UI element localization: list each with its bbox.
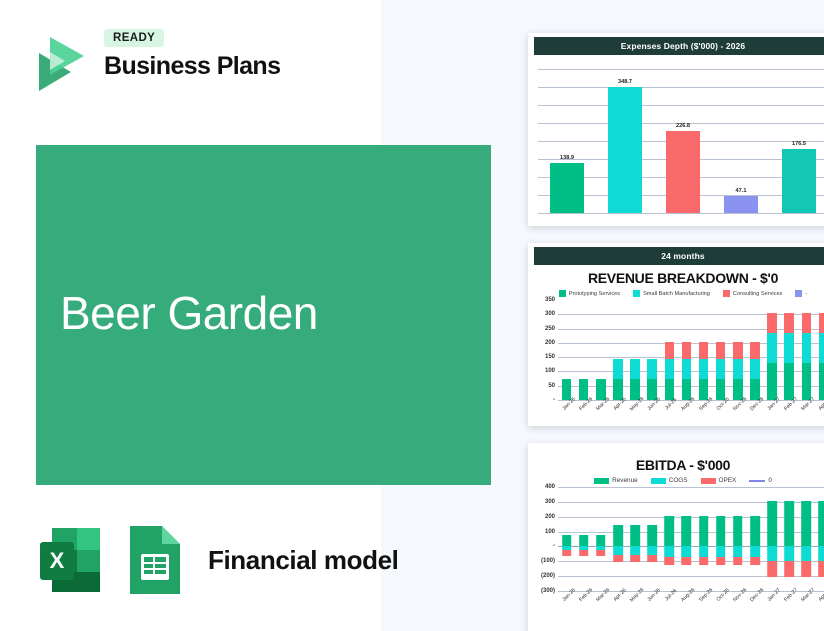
x-axis-tick: Sep-26 (695, 400, 712, 426)
svg-text:X: X (50, 548, 65, 573)
bar-segment (699, 379, 709, 400)
y-axis-label: 200 (545, 514, 558, 520)
stacked-bar (579, 379, 589, 400)
bar-segment (802, 363, 812, 400)
positive-stack (596, 535, 606, 546)
legend-swatch (651, 478, 666, 484)
x-axis-tick: Mar-27 (798, 400, 815, 426)
bar-slot (661, 487, 678, 591)
bar (724, 196, 758, 213)
bar-slot (575, 487, 592, 591)
stacked-bar (596, 379, 606, 400)
stacked-bar (802, 313, 812, 400)
stacked-bar (682, 342, 692, 400)
bar-slot (627, 300, 644, 400)
bar-segment (784, 546, 794, 561)
x-axis-tick: Nov-26 (729, 400, 746, 426)
bar-slot: 176.5 (770, 69, 824, 213)
bar (550, 163, 584, 213)
bar (782, 149, 816, 213)
bar-slot (729, 300, 746, 400)
bar-slot (781, 300, 798, 400)
bar-segment (733, 546, 743, 556)
y-axis-label: 100 (545, 368, 558, 374)
bar-segment (819, 333, 824, 363)
legend-label: 0 (768, 477, 772, 484)
chart-card-ebitda: EBITDA - $'000 RevenueCOGSOPEX0 40030020… (528, 443, 824, 631)
bar-segment (579, 379, 589, 400)
bar-segment (767, 501, 777, 547)
bar (666, 131, 700, 213)
x-axis-tick: Dec-26 (746, 591, 763, 617)
expenses-chart-title: Expenses Depth ($'000) - 2026 (534, 37, 824, 55)
negative-stack (665, 546, 675, 565)
bar-segment (682, 342, 692, 359)
x-axis-tick: Aug-26 (678, 400, 695, 426)
bar-segment (647, 555, 657, 562)
bar-segment (819, 363, 824, 400)
bar-segment (716, 359, 726, 379)
bar-value-label: 138.9 (560, 155, 574, 161)
x-axis-tick: Apr-27 (815, 591, 824, 617)
negative-stack (647, 546, 657, 562)
bar-value-label: 47.1 (736, 188, 747, 194)
legend-label: OPEX (719, 477, 737, 484)
bar-segment (802, 561, 812, 577)
x-axis-tick: Jan-27 (764, 591, 781, 617)
bar-segment (699, 359, 709, 379)
positive-stack (716, 516, 726, 546)
bar-slot (798, 300, 815, 400)
legend-item[interactable]: - (795, 290, 807, 297)
positive-stack (630, 525, 640, 547)
legend-item[interactable]: Consulting Services (723, 290, 782, 297)
negative-stack (784, 546, 794, 577)
x-axis-tick: Feb-27 (781, 591, 798, 617)
bar-segment (613, 546, 623, 555)
bar-segment (716, 557, 726, 566)
bar-slot (609, 487, 626, 591)
negative-stack (819, 546, 824, 577)
bar-value-label: 348.7 (618, 79, 632, 85)
bar-segment (750, 546, 760, 556)
bar-segment (784, 333, 794, 363)
bar-value-label: 226.8 (676, 123, 690, 129)
bar-slot (815, 487, 824, 591)
file-formats-row: X Financial model (32, 522, 399, 598)
bar-segment (682, 359, 692, 379)
bar-slot (575, 300, 592, 400)
bar-segment (819, 501, 824, 547)
y-axis-label: 300 (545, 311, 558, 317)
y-axis-label: 300 (545, 499, 558, 505)
positive-stack (802, 501, 812, 547)
legend-label: Small Batch Manufacturing (643, 291, 710, 297)
x-axis-tick: Mar-26 (592, 591, 609, 617)
bar-slot (644, 487, 661, 591)
y-axis-label: 250 (545, 326, 558, 332)
bar-segment (613, 525, 623, 547)
bar-segment (733, 359, 743, 379)
financial-model-label: Financial model (208, 545, 399, 576)
positive-stack (647, 525, 657, 547)
legend-label: Prototyping Services (569, 291, 620, 297)
bar-segment (767, 313, 777, 334)
play-triangles-logo-icon (24, 30, 92, 98)
x-axis-tick: Jan-26 (558, 400, 575, 426)
bar-segment (767, 363, 777, 400)
negative-stack (716, 546, 726, 565)
x-axis-tick: Apr-26 (609, 400, 626, 426)
bar-segment (699, 342, 709, 359)
revenue-plot-area: 35030025020015010050- (558, 300, 824, 400)
y-axis-label: 350 (545, 297, 558, 303)
bar-slot (712, 487, 729, 591)
legend-item[interactable]: Small Batch Manufacturing (633, 290, 710, 297)
revenue-period-ribbon: 24 months (534, 247, 824, 265)
x-axis-tick: Feb-27 (781, 400, 798, 426)
ebitda-legend: RevenueCOGSOPEX0 (528, 475, 824, 485)
y-axis-label: 50 (548, 383, 558, 389)
stacked-bar (716, 342, 726, 400)
legend-label: - (805, 291, 807, 297)
x-axis-tick: Jun-26 (644, 400, 661, 426)
ebitda-x-axis: Jan-26Feb-26Mar-26Apr-26May-26Jun-26Jul-… (558, 591, 824, 617)
ready-badge: READY (104, 29, 164, 47)
bar-slot (558, 487, 575, 591)
bar-segment (733, 516, 743, 546)
x-axis-tick: Apr-26 (609, 591, 626, 617)
bar-segment (647, 546, 657, 555)
bar-slot (644, 300, 661, 400)
stacked-bar (630, 359, 640, 400)
x-axis-tick: Apr-27 (815, 400, 824, 426)
positive-stack (682, 516, 692, 546)
legend-swatch (701, 478, 716, 484)
y-axis-label: 400 (545, 484, 558, 490)
bar-slot: 348.7 (596, 69, 654, 213)
bar-segment (784, 501, 794, 547)
bar-segment (699, 546, 709, 556)
bar-segment (682, 516, 692, 546)
bar-segment (750, 342, 760, 359)
bar-slot (609, 300, 626, 400)
google-sheets-icon (122, 522, 188, 598)
legend-swatch (594, 478, 609, 484)
bar-segment (819, 561, 824, 577)
negative-stack (699, 546, 709, 565)
legend-label: COGS (669, 477, 688, 484)
legend-swatch (749, 480, 765, 482)
positive-stack (733, 516, 743, 546)
positive-stack (562, 535, 572, 546)
positive-stack (613, 525, 623, 547)
bar-slot (764, 487, 781, 591)
bar-segment (682, 546, 692, 556)
positive-stack (579, 535, 589, 546)
bar-slot (558, 300, 575, 400)
bar-segment (733, 379, 743, 400)
ebitda-plot-area: 400300200100-(100)(200)(300) (558, 487, 824, 591)
brand-text-block: READY Business Plans (104, 28, 364, 81)
bar-segment (784, 363, 794, 400)
x-axis-tick: Oct-26 (712, 400, 729, 426)
negative-stack (802, 546, 812, 577)
bar-slot (592, 487, 609, 591)
legend-item[interactable]: 0 (749, 477, 772, 484)
chart-card-expenses: Expenses Depth ($'000) - 2026 138.9348.7… (528, 33, 824, 226)
bar-segment (665, 546, 675, 556)
x-axis-tick: Mar-26 (592, 400, 609, 426)
negative-stack (630, 546, 640, 562)
bar-segment (562, 535, 572, 546)
bar-slot: 138.9 (538, 69, 596, 213)
negative-stack (579, 546, 589, 556)
bar-segment (750, 516, 760, 546)
negative-stack (750, 546, 760, 565)
bar-segment (716, 516, 726, 546)
stacked-bar (750, 342, 760, 400)
x-axis-tick: Jul-26 (661, 400, 678, 426)
bar-segment (596, 535, 606, 546)
bar-segment (819, 313, 824, 334)
bar-segment (802, 313, 812, 334)
stacked-bar (665, 342, 675, 400)
bar-segment (562, 550, 572, 556)
positive-stack (750, 516, 760, 546)
gridline (538, 213, 824, 214)
ebitda-chart-title: EBITDA - $'000 (528, 443, 824, 475)
positive-stack (784, 501, 794, 547)
bar-slot (798, 487, 815, 591)
bar-slot (695, 487, 712, 591)
legend-item[interactable]: COGS (651, 477, 688, 484)
bar-slot (781, 487, 798, 591)
x-axis-tick: May-26 (627, 400, 644, 426)
bar-slot (746, 487, 763, 591)
y-axis-label: (200) (541, 573, 558, 579)
bar-slot (678, 300, 695, 400)
bar-segment (596, 550, 606, 556)
bar-slot: 226.8 (654, 69, 712, 213)
bar-segment (767, 546, 777, 561)
bar-slot (815, 300, 824, 400)
bar-segment (596, 379, 606, 400)
expenses-plot-area: 138.9348.7226.847.1176.5 (538, 69, 824, 213)
positive-stack (699, 516, 709, 546)
stacked-bar (613, 359, 623, 400)
bar-segment (630, 546, 640, 555)
bar-segment (767, 333, 777, 363)
x-axis-tick: Jan-26 (558, 591, 575, 617)
bar-segment (750, 359, 760, 379)
bar-slot (764, 300, 781, 400)
bar-segment (767, 561, 777, 577)
legend-label: Revenue (612, 477, 638, 484)
chart-card-revenue: 24 months REVENUE BREAKDOWN - $'0 Protot… (528, 243, 824, 426)
bar-segment (665, 557, 675, 566)
stacked-bar (733, 342, 743, 400)
bar-segment (630, 525, 640, 547)
bar-segment (613, 555, 623, 562)
stacked-bar (819, 313, 824, 400)
cover-page: READY Business Plans Beer Garden X (0, 0, 824, 631)
legend-item[interactable]: Revenue (594, 477, 638, 484)
x-axis-tick: Sep-26 (695, 591, 712, 617)
legend-item[interactable]: Prototyping Services (559, 290, 620, 297)
bar-segment (802, 546, 812, 561)
bar-value-label: 176.5 (792, 141, 806, 147)
bar-segment (784, 561, 794, 577)
y-axis-label: 150 (545, 354, 558, 360)
revenue-legend: Prototyping ServicesSmall Batch Manufact… (528, 288, 824, 298)
legend-swatch (633, 290, 640, 297)
bar-segment (630, 555, 640, 562)
bar-slot (627, 487, 644, 591)
project-title: Beer Garden (60, 290, 318, 336)
bar-segment (579, 535, 589, 546)
bar-slot (678, 487, 695, 591)
bar-segment (562, 379, 572, 400)
negative-stack (562, 546, 572, 556)
bar-segment (699, 516, 709, 546)
x-axis-tick: Feb-26 (575, 591, 592, 617)
stacked-bar (784, 313, 794, 400)
bar-segment (716, 342, 726, 359)
y-axis-label: 100 (545, 529, 558, 535)
x-axis-tick: Dec-26 (746, 400, 763, 426)
y-axis-label: (100) (541, 558, 558, 564)
bar-segment (802, 333, 812, 363)
bar-slot (712, 300, 729, 400)
revenue-x-axis: Jan-26Feb-26Mar-26Apr-26May-26Jun-26Jul-… (558, 400, 824, 426)
x-axis-tick: Nov-26 (729, 591, 746, 617)
legend-swatch (723, 290, 730, 297)
x-axis-tick: Jan-27 (764, 400, 781, 426)
stacked-bar (647, 359, 657, 400)
bar-slot: 47.1 (712, 69, 770, 213)
bar-segment (665, 359, 675, 379)
x-axis-tick: Feb-26 (575, 400, 592, 426)
bar-slot (592, 300, 609, 400)
positive-stack (665, 516, 675, 546)
bar-segment (699, 557, 709, 566)
y-axis-label: 200 (545, 340, 558, 346)
bar-segment (613, 359, 623, 379)
legend-swatch (795, 290, 802, 297)
bar-segment (665, 342, 675, 359)
bar-segment (647, 525, 657, 547)
bar (608, 87, 642, 213)
x-axis-tick: Oct-26 (712, 591, 729, 617)
negative-stack (613, 546, 623, 562)
bar-segment (579, 550, 589, 556)
positive-stack (767, 501, 777, 547)
bar-segment (647, 359, 657, 379)
bar-segment (682, 557, 692, 566)
bar-segment (716, 546, 726, 556)
positive-stack (819, 501, 824, 547)
negative-stack (596, 546, 606, 556)
bar-segment (819, 546, 824, 561)
bar-segment (630, 359, 640, 379)
negative-stack (733, 546, 743, 565)
revenue-chart-title: REVENUE BREAKDOWN - $'0 (528, 265, 824, 288)
stacked-bar (562, 379, 572, 400)
x-axis-tick: Aug-26 (678, 591, 695, 617)
bar-segment (784, 313, 794, 334)
stacked-bar (699, 342, 709, 400)
x-axis-tick: Jun-26 (644, 591, 661, 617)
stacked-bar (767, 313, 777, 400)
x-axis-tick: Jul-26 (661, 591, 678, 617)
x-axis-tick: May-26 (627, 591, 644, 617)
bar-segment (733, 342, 743, 359)
bar-segment (665, 516, 675, 546)
y-axis-label: (300) (541, 588, 558, 594)
x-axis-label: Jul-26 (664, 397, 678, 411)
bar-segment (802, 501, 812, 547)
bar-segment (750, 557, 760, 566)
bar-slot (661, 300, 678, 400)
legend-swatch (559, 290, 566, 297)
bar-slot (746, 300, 763, 400)
negative-stack (767, 546, 777, 577)
brand-logo: READY Business Plans (24, 28, 364, 104)
bar-segment (716, 379, 726, 400)
bar-slot (695, 300, 712, 400)
legend-item[interactable]: OPEX (701, 477, 737, 484)
negative-stack (682, 546, 692, 565)
legend-label: Consulting Services (733, 291, 782, 297)
x-axis-tick: Mar-27 (798, 591, 815, 617)
x-axis-label: Jul-26 (664, 588, 678, 602)
brand-name: Business Plans (104, 53, 364, 81)
bar-segment (733, 557, 743, 566)
microsoft-excel-icon: X (32, 522, 108, 598)
bar-slot (729, 487, 746, 591)
